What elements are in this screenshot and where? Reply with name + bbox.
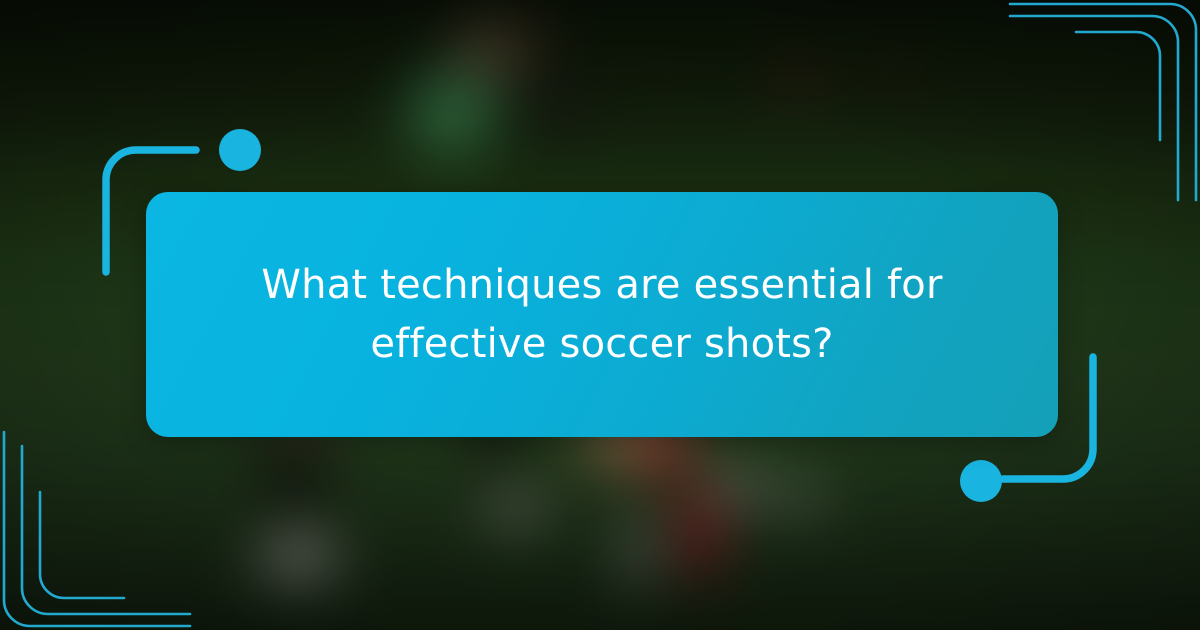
social-card-canvas: What techniques are essential for effect… <box>0 0 1200 630</box>
question-card-title: What techniques are essential for effect… <box>158 256 1046 373</box>
question-card: What techniques are essential for effect… <box>146 192 1058 437</box>
